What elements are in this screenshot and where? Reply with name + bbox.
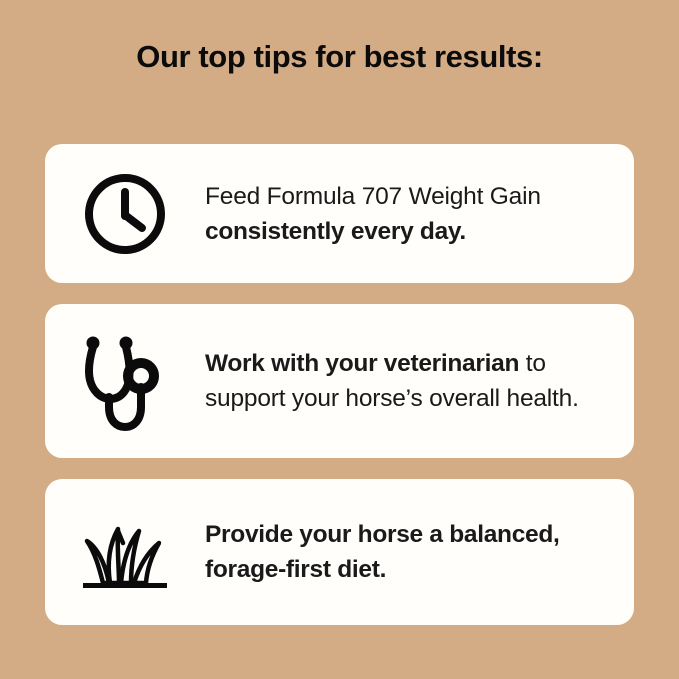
grass-icon — [45, 509, 205, 595]
tips-card-list: Feed Formula 707 Weight Gain consistentl… — [45, 144, 634, 625]
stethoscope-icon — [45, 329, 205, 433]
tip-text: Feed Formula 707 Weight Gain consistentl… — [205, 179, 612, 249]
tip-card-veterinarian: Work with your veterinarian to support y… — [45, 304, 634, 458]
tip-text-cell: Work with your veterinarian to support y… — [205, 346, 634, 416]
tip-text-bold: Work with your veterinarian — [205, 350, 519, 377]
page-title: Our top tips for best results: — [0, 36, 679, 78]
tips-panel: Our top tips for best results: Feed Form… — [0, 0, 679, 679]
tip-text: Provide your horse a balanced, forage-fi… — [205, 517, 612, 587]
tip-text-regular: Feed Formula 707 Weight Gain — [205, 183, 541, 210]
tip-text-bold: consistently every day. — [205, 218, 466, 245]
tip-card-forage-diet: Provide your horse a balanced, forage-fi… — [45, 479, 634, 625]
tip-card-consistency: Feed Formula 707 Weight Gain consistentl… — [45, 144, 634, 283]
clock-icon — [45, 170, 205, 258]
tip-text: Work with your veterinarian to support y… — [205, 346, 612, 416]
tip-text-cell: Feed Formula 707 Weight Gain consistentl… — [205, 179, 634, 249]
tip-text-bold: Provide your horse a balanced, forage-fi… — [205, 521, 560, 583]
tip-text-cell: Provide your horse a balanced, forage-fi… — [205, 517, 634, 587]
